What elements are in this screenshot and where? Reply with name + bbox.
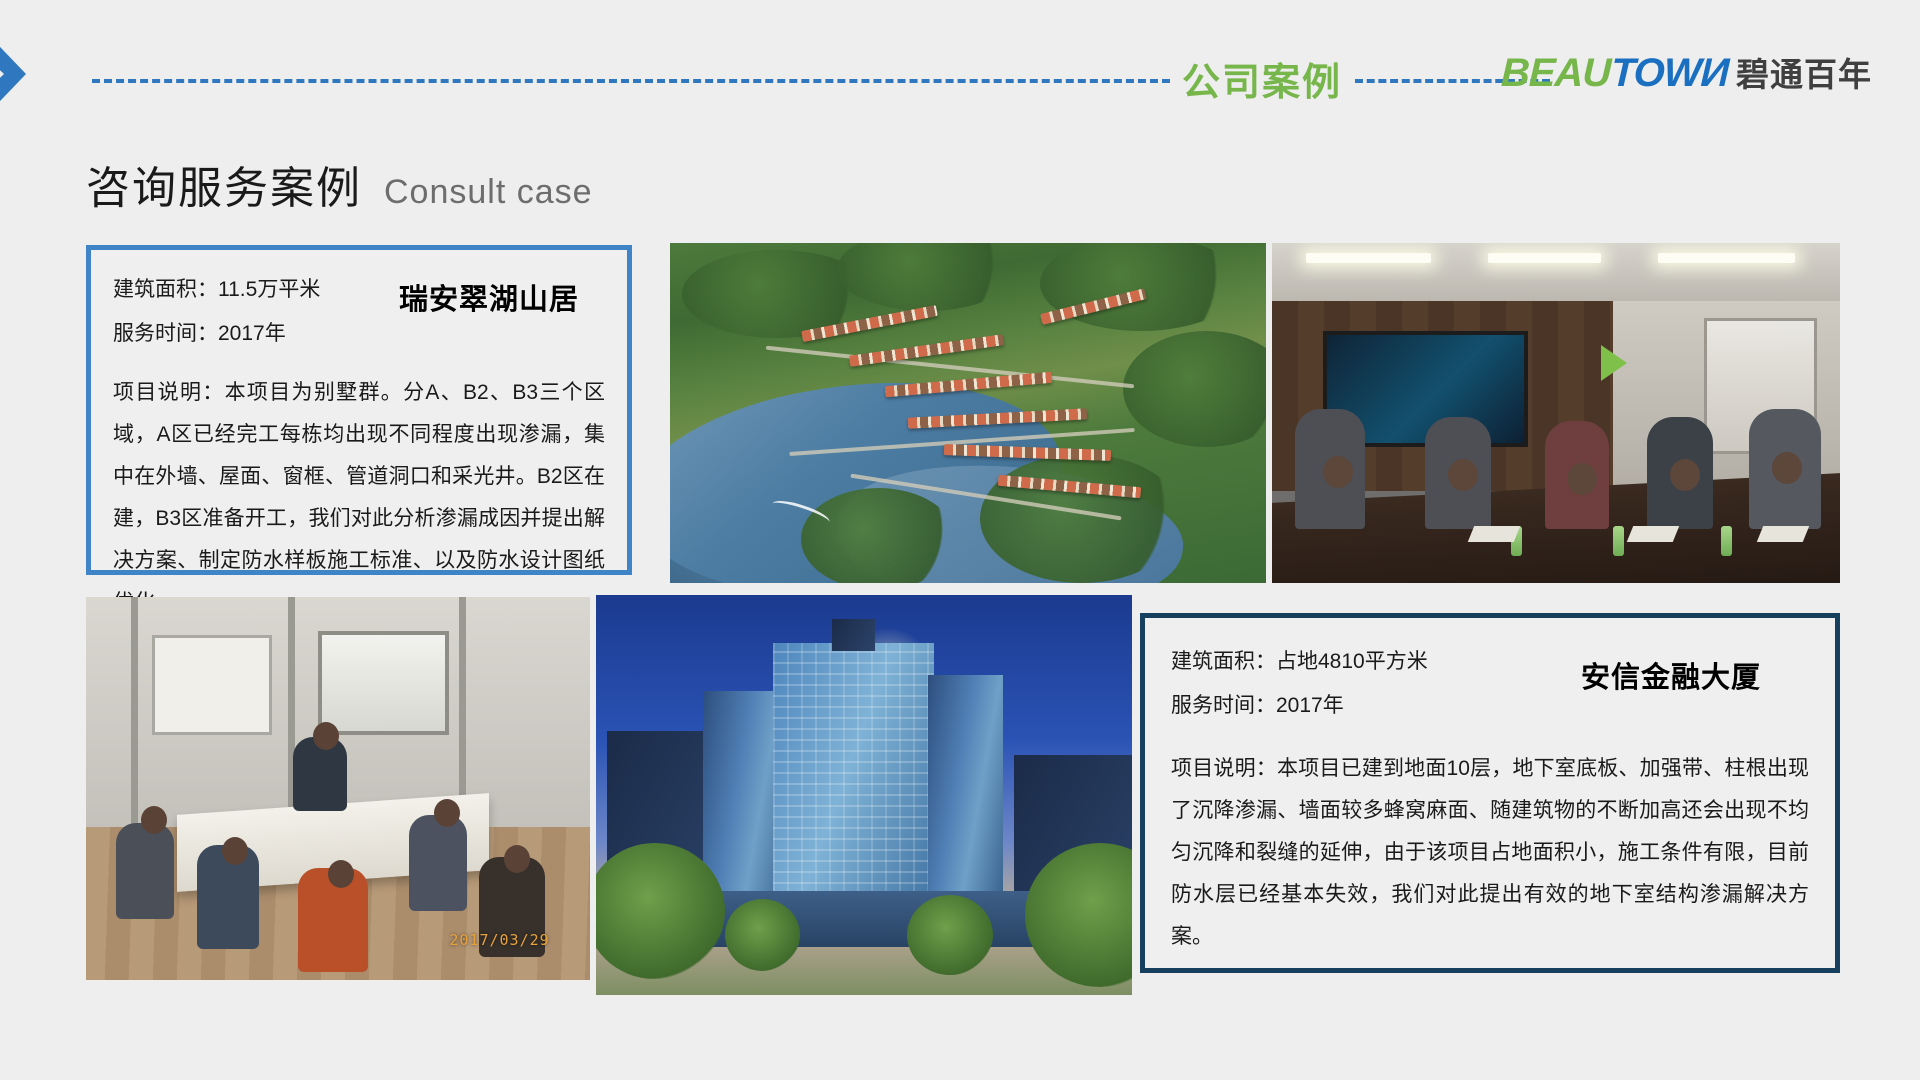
tower-scene: [596, 595, 1132, 995]
photo-site-office-meeting: 2017/03/29: [86, 597, 590, 980]
tree-grove: [980, 454, 1183, 583]
chevron-logo-mark: [0, 28, 60, 120]
ceiling-light: [1658, 253, 1794, 263]
case-card-ruian-name: 瑞安翠湖山居: [399, 276, 579, 318]
tree-grove: [1123, 331, 1266, 447]
photo-timestamp: 2017/03/29: [449, 931, 549, 949]
case-card-anxin-name: 安信金融大厦: [1581, 654, 1761, 696]
area-label: 建筑面积：: [113, 278, 218, 301]
wall-stud: [131, 597, 138, 827]
person-head: [504, 845, 530, 873]
area-value: 11.5万平米: [218, 278, 320, 301]
time-label: 服务时间：: [113, 322, 218, 345]
brand-logo: BEAU TOWИ 碧通百年: [1501, 48, 1872, 96]
ceiling-light: [1488, 253, 1602, 263]
desc-label: 项目说明：: [113, 381, 225, 404]
case-card-ruian-description: 项目说明：本项目为别墅群。分A、B2、B3三个区域，A区已经完工每栋均出现不同程…: [113, 372, 605, 624]
case-card-anxin: 建筑面积：占地4810平方米 服务时间：2017年 安信金融大厦 项目说明：本项…: [1140, 613, 1840, 973]
office-scene: 2017/03/29: [86, 597, 590, 980]
brand-logo-beau: BEAU: [1501, 51, 1612, 96]
tree-grove: [1040, 243, 1243, 331]
ceiling: [1272, 243, 1840, 301]
brand-logo-chinese: 碧通百年: [1736, 48, 1872, 96]
person-head: [1567, 463, 1597, 495]
time-label: 服务时间：: [1171, 694, 1276, 717]
document-paper: [1468, 526, 1520, 542]
seated-person: [116, 823, 174, 919]
photo-aerial-villa-community: [670, 243, 1266, 583]
person-head: [222, 837, 248, 865]
screen-green-arrow-icon: [1601, 345, 1627, 381]
case-card-ruian-header: 建筑面积：11.5万平米 服务时间：2017年 瑞安翠湖山居: [113, 268, 605, 372]
water-bottle: [1613, 526, 1624, 556]
photo-office-tower-rendering: [596, 595, 1132, 995]
page-title: 咨询服务案例 Consult case: [86, 152, 593, 216]
time-value: 2017年: [1276, 694, 1344, 717]
foreground-tree: [725, 899, 800, 971]
brand-logo-town: TOWИ: [1610, 51, 1729, 96]
document-paper: [1627, 526, 1679, 542]
window: [318, 631, 449, 734]
person-head: [328, 860, 354, 888]
foreground-tree: [907, 895, 993, 975]
person-head: [1772, 452, 1802, 484]
desc-value: 本项目已建到地面10层，地下室底板、加强带、柱根出现了沉降渗漏、墙面较多蜂窝麻面…: [1171, 757, 1809, 948]
person-head: [434, 799, 460, 827]
water-bottle: [1721, 526, 1732, 556]
case-card-anxin-header: 建筑面积：占地4810平方米 服务时间：2017年 安信金融大厦: [1171, 640, 1809, 748]
document-paper: [1757, 526, 1809, 542]
photo-conference-room: [1272, 243, 1840, 583]
ceiling-light: [1306, 253, 1431, 263]
case-card-anxin-description: 项目说明：本项目已建到地面10层，地下室底板、加强带、柱根出现了沉降渗漏、墙面较…: [1171, 748, 1809, 958]
whiteboard: [152, 635, 273, 735]
meeting-scene: [1272, 243, 1840, 583]
section-title: 公司案例: [1182, 51, 1342, 106]
tree-grove: [801, 488, 956, 583]
aerial-scene: [670, 243, 1266, 583]
person-head: [1323, 456, 1353, 488]
desc-value: 本项目为别墅群。分A、B2、B3三个区域，A区已经完工每栋均出现不同程度出现渗漏…: [113, 381, 605, 614]
tower-crown: [832, 619, 875, 651]
header-divider-left: [92, 79, 1170, 83]
wall-stud: [459, 597, 466, 827]
time-value: 2017年: [218, 322, 286, 345]
person-head: [313, 722, 339, 750]
seated-person: [409, 815, 467, 911]
case-card-ruian: 建筑面积：11.5万平米 服务时间：2017年 瑞安翠湖山居 项目说明：本项目为…: [86, 245, 632, 575]
desc-label: 项目说明：: [1171, 757, 1277, 780]
area-label: 建筑面积：: [1171, 650, 1276, 673]
slide-root: 公司案例 BEAU TOWИ 碧通百年 咨询服务案例 Consult case …: [0, 0, 1920, 1080]
area-value: 占地4810平方米: [1276, 650, 1428, 673]
page-title-english: Consult case: [384, 173, 593, 212]
person-head: [1670, 459, 1700, 491]
page-title-chinese: 咨询服务案例: [86, 152, 362, 216]
case-card-ruian-time: 服务时间：2017年: [113, 312, 605, 356]
